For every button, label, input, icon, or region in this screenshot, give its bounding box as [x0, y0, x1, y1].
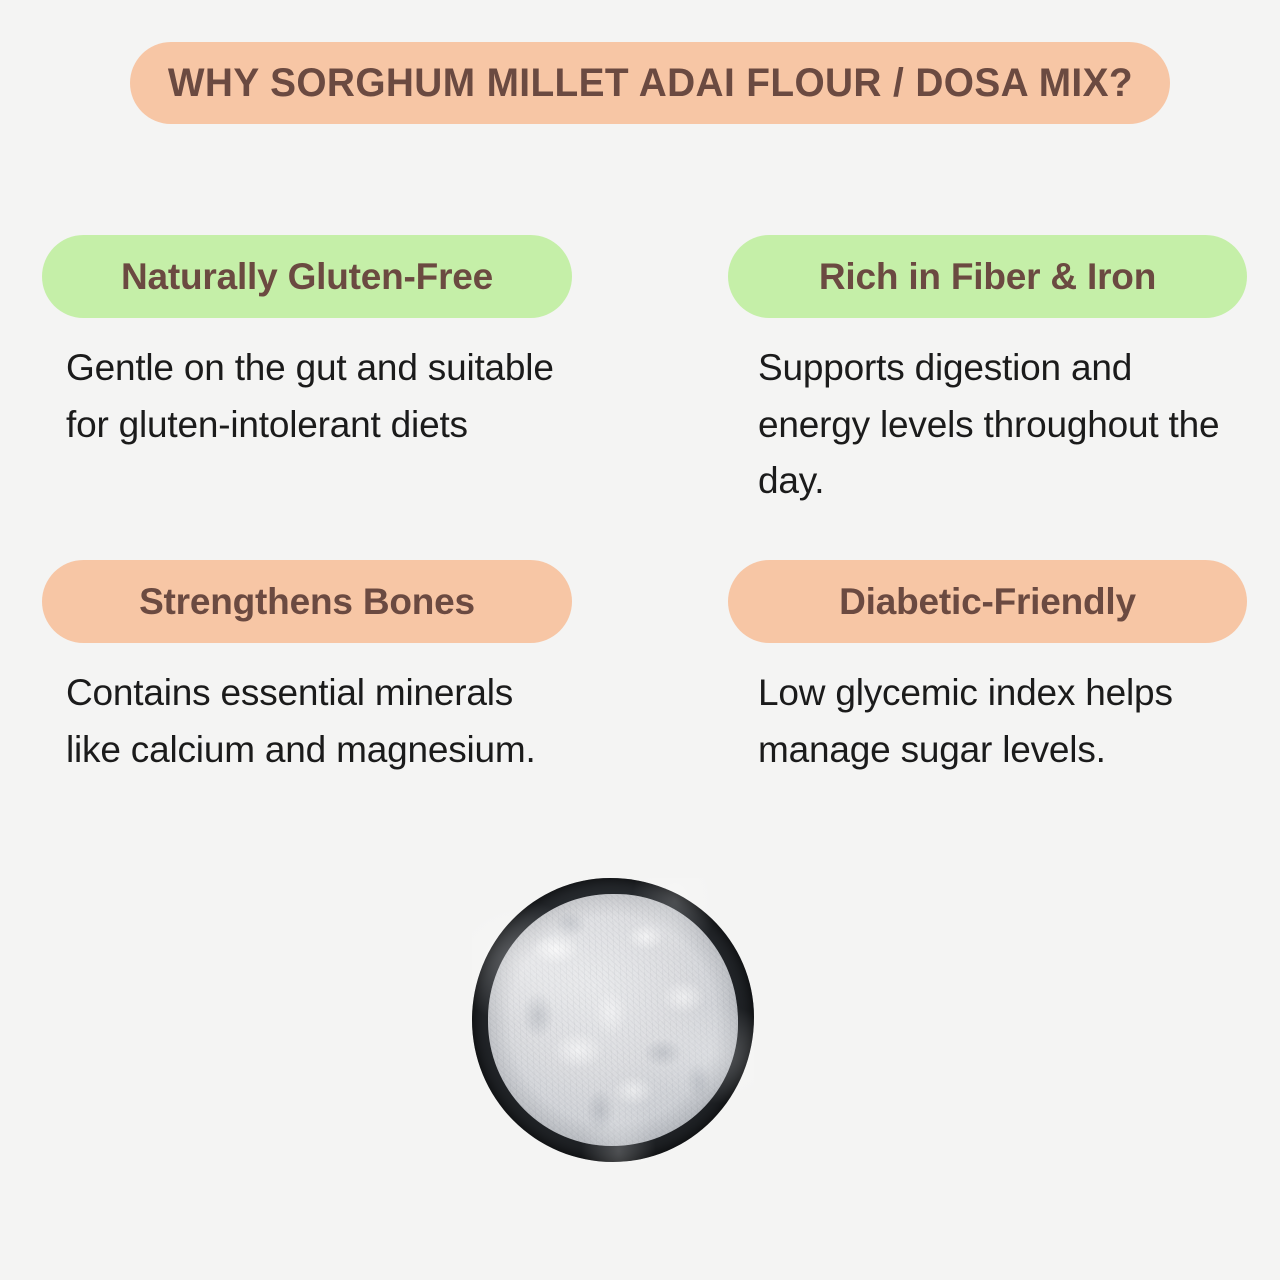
benefit-pill-diabetic-friendly: Diabetic-Friendly [728, 560, 1247, 643]
benefit-label-gluten-free: Naturally Gluten-Free [121, 258, 493, 295]
benefit-pill-strengthens-bones: Strengthens Bones [42, 560, 572, 643]
flour-shadow-layer [488, 894, 739, 1147]
benefit-description-gluten-free: Gentle on the gut and suitable for glute… [42, 340, 572, 453]
bowl-shape [472, 878, 754, 1162]
benefit-card-strengthens-bones: Strengthens Bones Contains essential min… [42, 560, 572, 778]
benefit-card-gluten-free: Naturally Gluten-Free Gentle on the gut … [42, 235, 572, 453]
benefit-description-fiber-iron: Supports digestion and energy levels thr… [728, 340, 1247, 510]
infographic-page: WHY SORGHUM MILLET ADAI FLOUR / DOSA MIX… [0, 0, 1280, 1280]
benefit-description-diabetic-friendly: Low glycemic index helps manage sugar le… [728, 665, 1247, 778]
product-photo-flour-bowl [472, 878, 754, 1162]
benefit-description-strengthens-bones: Contains essential minerals like calcium… [42, 665, 572, 778]
flour-fill [488, 894, 739, 1147]
benefit-label-fiber-iron: Rich in Fiber & Iron [819, 258, 1156, 295]
benefit-label-diabetic-friendly: Diabetic-Friendly [839, 583, 1136, 620]
benefit-card-diabetic-friendly: Diabetic-Friendly Low glycemic index hel… [728, 560, 1247, 778]
benefit-card-fiber-iron: Rich in Fiber & Iron Supports digestion … [728, 235, 1247, 510]
benefit-pill-gluten-free: Naturally Gluten-Free [42, 235, 572, 318]
benefit-label-strengthens-bones: Strengthens Bones [139, 583, 475, 620]
benefit-pill-fiber-iron: Rich in Fiber & Iron [728, 235, 1247, 318]
